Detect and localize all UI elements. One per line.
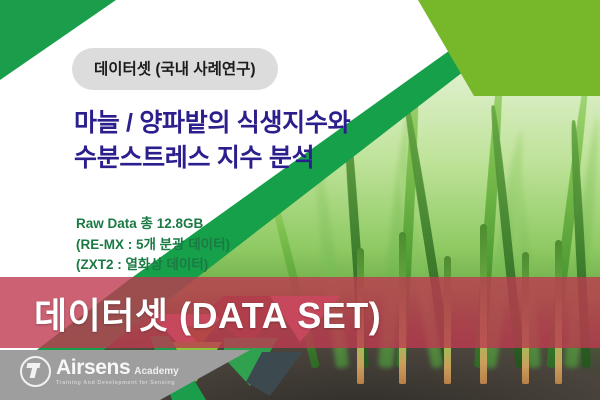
- raw-data-zxt2: (ZXT2 : 열화상 데이터): [76, 255, 230, 276]
- logo-brand-sub: Academy: [134, 367, 178, 377]
- raw-data-remx: (RE-MX : 5개 분광 데이터): [76, 235, 230, 256]
- raw-data-total: Raw Data 총 12.8GB: [76, 214, 230, 235]
- page-title-line-2: 수분스트레스 지수 분석: [74, 141, 434, 176]
- raw-data-summary: Raw Data 총 12.8GB (RE-MX : 5개 분광 데이터) (Z…: [76, 214, 230, 276]
- airsens-swirl-icon: [20, 356, 51, 387]
- airsens-academy-logo: Airsens Academy Training And Development…: [20, 356, 179, 387]
- logo-tagline: Training And Development for Sensing: [56, 381, 179, 386]
- page-title: 마늘 / 양파밭의 식생지수와 수분스트레스 지수 분석: [74, 106, 434, 175]
- logo-text: Airsens Academy Training And Development…: [56, 357, 179, 386]
- logo-name-row: Airsens Academy: [56, 357, 179, 378]
- page-title-line-1: 마늘 / 양파밭의 식생지수와: [74, 106, 434, 141]
- logo-brand-name: Airsens: [56, 357, 130, 378]
- dataset-category-pill: 데이터셋 (국내 사례연구): [72, 48, 278, 90]
- data-set-banner-text: 데이터셋 (DATA SET): [0, 277, 600, 348]
- slide-card: 데이터셋 (DATA SET) 데이터셋 (국내 사례연구) 마늘 / 양파밭의…: [0, 0, 600, 400]
